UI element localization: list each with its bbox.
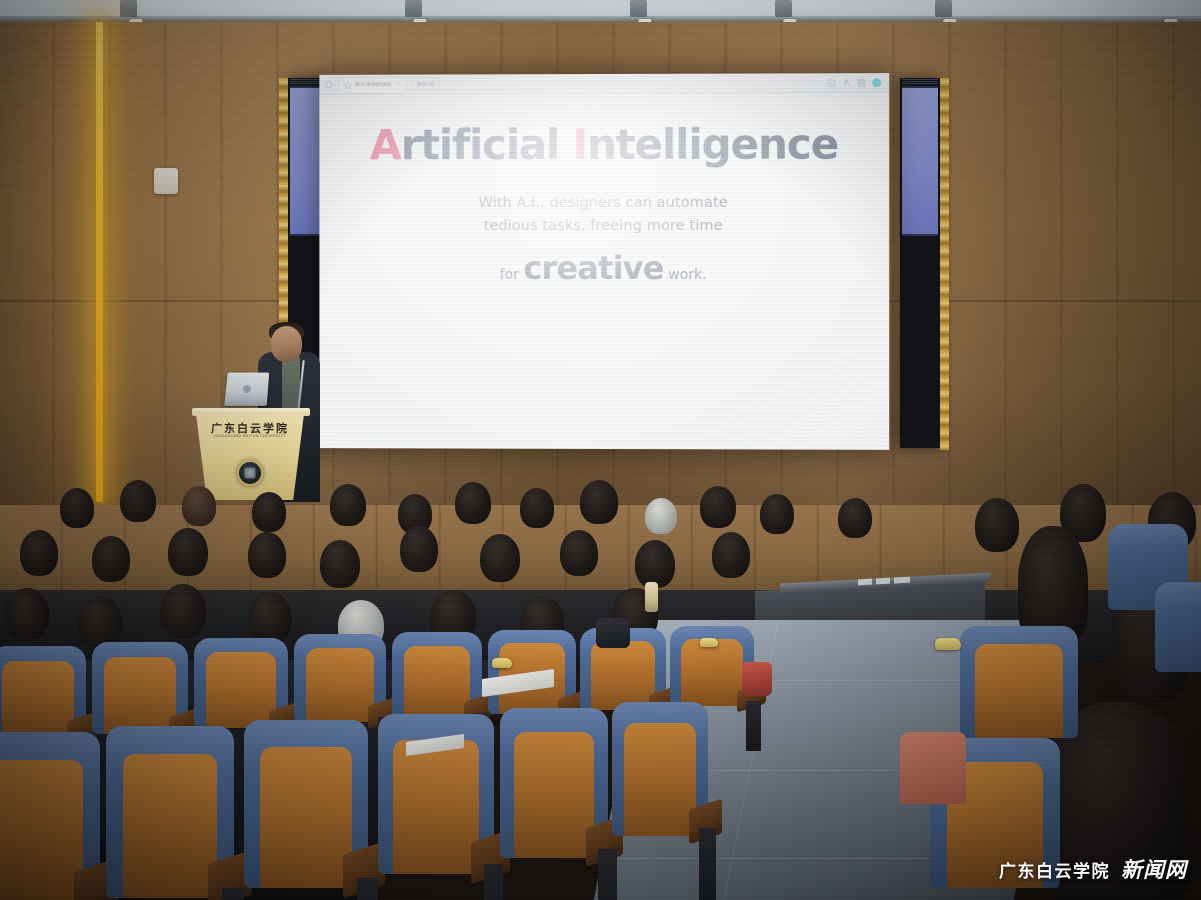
backpack[interactable] (742, 662, 772, 696)
auditorium-photo: AI in design.pptx × New tab Artificial I… (0, 0, 1201, 900)
slide-title: Artificial Intelligence (319, 123, 889, 166)
home-icon[interactable] (324, 80, 333, 89)
water-bottle[interactable] (645, 582, 658, 612)
audience-head (20, 530, 58, 576)
watermark-outlet: 新闻网 (1121, 854, 1187, 884)
audience-head (580, 480, 618, 524)
share-icon[interactable] (842, 78, 851, 87)
auditorium-seat[interactable] (106, 726, 234, 898)
auditorium-seat[interactable] (500, 708, 608, 858)
audience-head (520, 488, 554, 528)
audience-head (78, 596, 122, 648)
audience-head (645, 498, 677, 534)
slide-body-line-1: With A.I., designers can automate (319, 192, 889, 215)
audience-shoe (700, 638, 718, 647)
audience-head (160, 584, 206, 638)
auditorium-seat[interactable] (244, 720, 368, 888)
auditorium-seat[interactable] (612, 702, 708, 836)
slide-body-line-2: tedious tasks, freeing more time (319, 215, 889, 238)
tab-title: AI in design.pptx (355, 82, 391, 88)
audience-head (248, 592, 292, 644)
audience-head (5, 588, 49, 640)
apps-icon[interactable] (857, 78, 866, 87)
acoustic-panel-right (900, 78, 940, 448)
audience-head (712, 532, 750, 578)
slide-content: Artificial Intelligence With A.I., desig… (319, 93, 889, 450)
ceiling-mount (935, 0, 952, 17)
auditorium-seat[interactable] (392, 632, 482, 718)
auditorium-seat[interactable] (92, 642, 188, 734)
panel-blue-face (902, 86, 938, 236)
kicker-post: work. (664, 267, 707, 283)
new-tab-label: New tab (417, 81, 435, 87)
audience-seating (0, 470, 1201, 900)
wall-switch-plate[interactable] (154, 168, 178, 194)
audience-head (120, 480, 156, 522)
auditorium-seat[interactable] (1155, 582, 1201, 672)
new-tab-button[interactable]: New tab (412, 76, 440, 91)
ceiling-mount (775, 0, 792, 17)
accent-led-strip (96, 22, 103, 502)
audience-head (700, 486, 736, 528)
ceiling-mount (630, 0, 647, 17)
audience-head (168, 528, 208, 576)
tab-close-icon[interactable]: × (394, 82, 401, 88)
audience-head (60, 488, 94, 528)
auditorium-seat[interactable] (294, 634, 386, 722)
profile-avatar[interactable] (872, 78, 881, 87)
projection-screen: AI in design.pptx × New tab Artificial I… (319, 73, 889, 450)
ceiling-mount (405, 0, 422, 17)
audience-head (92, 536, 130, 582)
audience-head (248, 532, 286, 578)
presenter-head (271, 326, 302, 362)
browser-tab[interactable]: AI in design.pptx × (338, 77, 407, 92)
audience-head (330, 484, 366, 526)
kicker-pre: for (500, 267, 524, 283)
auditorium-seat[interactable] (0, 646, 86, 738)
podium-english-name: GUANGDONG BAIYUN UNIVERSITY (196, 434, 304, 438)
audience-head (320, 540, 360, 588)
browser-chrome: AI in design.pptx × New tab (319, 73, 889, 95)
audience-head (635, 540, 675, 588)
audience-jacket (900, 732, 966, 804)
audience-head (560, 530, 598, 576)
audience-head (400, 526, 438, 572)
kicker-emphasis: creative (523, 249, 663, 287)
audience-head (252, 492, 286, 532)
watermark-organization: 广东白云学院 (999, 857, 1110, 882)
gold-trim-right (940, 78, 949, 450)
star-icon (343, 80, 352, 89)
audience-shoe (935, 638, 961, 650)
backpack[interactable] (596, 618, 630, 648)
audience-head (975, 498, 1019, 552)
browser-toolbar (827, 78, 884, 87)
auditorium-seat[interactable] (0, 732, 100, 900)
auditorium-seat[interactable] (194, 638, 288, 728)
audience-head (182, 486, 216, 526)
slide-kicker: for creative work. (319, 252, 889, 284)
auditorium-seat[interactable] (960, 626, 1078, 738)
audience-shoe (492, 658, 512, 668)
watermark: 广东白云学院 新闻网 (999, 854, 1187, 884)
audience-head (480, 534, 520, 582)
ceiling-mount (120, 0, 137, 17)
audience-head (455, 482, 491, 524)
panel-grill (902, 78, 938, 85)
slide-body: With A.I., designers can automate tediou… (319, 192, 889, 238)
audience-head (760, 494, 794, 534)
presenter-laptop (224, 373, 269, 406)
audience-head (838, 498, 872, 538)
info-icon[interactable] (827, 78, 836, 87)
